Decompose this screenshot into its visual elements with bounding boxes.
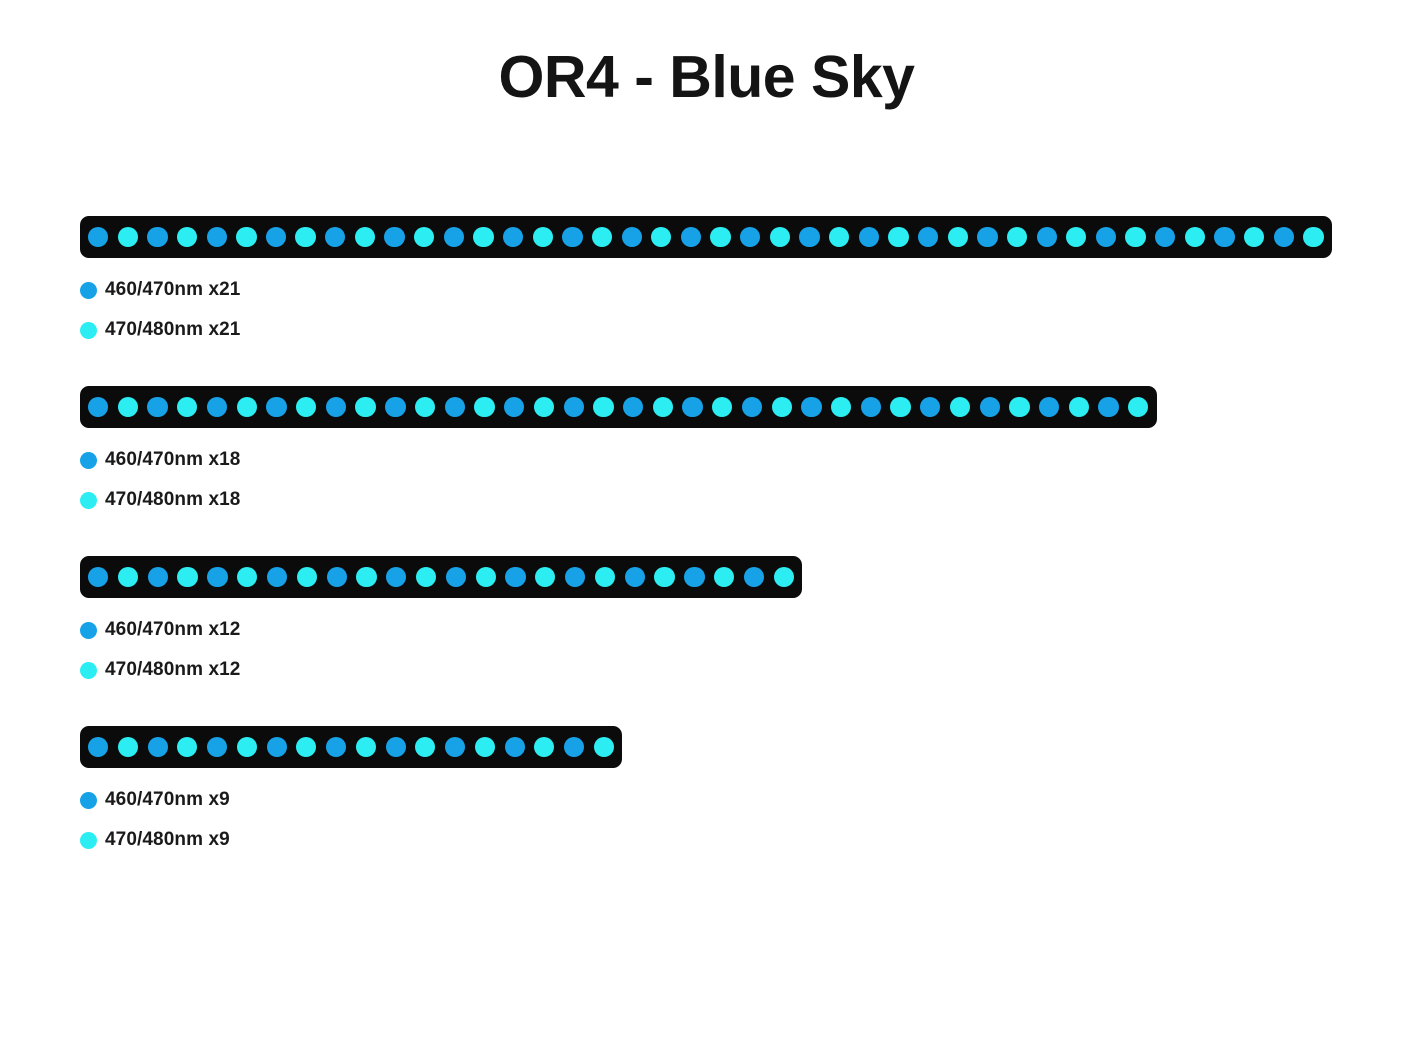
- led-460-470nm: [1096, 227, 1116, 247]
- led-460-470nm: [861, 397, 881, 417]
- led-460-470nm: [564, 397, 584, 417]
- led-460-470nm: [859, 227, 879, 247]
- led-470-480nm: [473, 227, 493, 247]
- led-470-480nm: [415, 397, 435, 417]
- led-470-480nm: [297, 567, 317, 587]
- led-470-480nm: [474, 397, 494, 417]
- led-460-470nm: [740, 227, 760, 247]
- led-460-470nm: [266, 397, 286, 417]
- led-460-470nm: [147, 397, 167, 417]
- led-470-480nm: [1125, 227, 1145, 247]
- led-470-480nm: [653, 397, 673, 417]
- led-470-480nm: [296, 397, 316, 417]
- legend-label: 470/480nm x21: [105, 319, 240, 341]
- led-460-470nm: [147, 227, 167, 247]
- legend-label: 470/480nm x18: [105, 489, 240, 511]
- led-470-480nm: [355, 397, 375, 417]
- led-460-470nm: [446, 567, 466, 587]
- led-470-480nm: [888, 227, 908, 247]
- legend-row: 460/470nm x12: [80, 615, 1413, 645]
- led-470-480nm: [1069, 397, 1089, 417]
- led-470-480nm: [1303, 227, 1323, 247]
- led-bar[interactable]: [80, 726, 622, 768]
- led-470-480nm: [772, 397, 792, 417]
- led-470-480nm: [770, 227, 790, 247]
- led-460-470nm: [977, 227, 997, 247]
- led-470-480nm: [654, 567, 674, 587]
- legend: 460/470nm x9470/480nm x9: [80, 785, 1413, 855]
- led-group: 460/470nm x18470/480nm x18: [0, 386, 1413, 515]
- legend-label: 470/480nm x9: [105, 829, 230, 851]
- led-460-470nm: [625, 567, 645, 587]
- legend-dot-460-470nm-icon: [80, 792, 97, 809]
- led-460-470nm: [445, 397, 465, 417]
- legend: 460/470nm x12470/480nm x12: [80, 615, 1413, 685]
- legend-row: 470/480nm x21: [80, 315, 1413, 345]
- led-460-470nm: [562, 227, 582, 247]
- legend-dot-460-470nm-icon: [80, 282, 97, 299]
- legend: 460/470nm x21470/480nm x21: [80, 275, 1413, 345]
- led-470-480nm: [593, 397, 613, 417]
- led-460-470nm: [207, 227, 227, 247]
- legend-label: 460/470nm x21: [105, 279, 240, 301]
- led-470-480nm: [592, 227, 612, 247]
- led-470-480nm: [355, 227, 375, 247]
- led-460-470nm: [445, 737, 465, 757]
- led-470-480nm: [177, 227, 197, 247]
- led-460-470nm: [326, 397, 346, 417]
- led-470-480nm: [356, 737, 376, 757]
- led-460-470nm: [681, 227, 701, 247]
- led-470-480nm: [1066, 227, 1086, 247]
- legend-dot-470-480nm-icon: [80, 662, 97, 679]
- led-460-470nm: [1098, 397, 1118, 417]
- led-460-470nm: [742, 397, 762, 417]
- led-460-470nm: [505, 737, 525, 757]
- legend-row: 470/480nm x12: [80, 655, 1413, 685]
- led-470-480nm: [414, 227, 434, 247]
- led-460-470nm: [266, 227, 286, 247]
- led-460-470nm: [88, 567, 108, 587]
- led-group: 460/470nm x12470/480nm x12: [0, 556, 1413, 685]
- led-460-470nm: [622, 227, 642, 247]
- led-460-470nm: [327, 567, 347, 587]
- led-470-480nm: [1244, 227, 1264, 247]
- led-470-480nm: [1128, 397, 1148, 417]
- led-bar[interactable]: [80, 386, 1157, 428]
- led-470-480nm: [534, 737, 554, 757]
- led-460-470nm: [267, 737, 287, 757]
- led-460-470nm: [980, 397, 1000, 417]
- led-470-480nm: [475, 737, 495, 757]
- led-460-470nm: [801, 397, 821, 417]
- led-470-480nm: [237, 567, 257, 587]
- led-460-470nm: [88, 397, 108, 417]
- led-460-470nm: [920, 397, 940, 417]
- led-460-470nm: [444, 227, 464, 247]
- led-group: 460/470nm x9470/480nm x9: [0, 726, 1413, 855]
- led-460-470nm: [88, 227, 108, 247]
- led-460-470nm: [148, 567, 168, 587]
- legend-label: 460/470nm x18: [105, 449, 240, 471]
- legend-row: 460/470nm x9: [80, 785, 1413, 815]
- page-title: OR4 - Blue Sky: [0, 48, 1413, 107]
- led-bar[interactable]: [80, 556, 802, 598]
- led-470-480nm: [950, 397, 970, 417]
- led-460-470nm: [1155, 227, 1175, 247]
- legend-label: 470/480nm x12: [105, 659, 240, 681]
- led-470-480nm: [476, 567, 496, 587]
- led-470-480nm: [237, 397, 257, 417]
- led-470-480nm: [595, 567, 615, 587]
- led-470-480nm: [177, 397, 197, 417]
- led-470-480nm: [118, 737, 138, 757]
- led-470-480nm: [534, 397, 554, 417]
- led-460-470nm: [326, 737, 346, 757]
- led-470-480nm: [118, 397, 138, 417]
- led-470-480nm: [296, 737, 316, 757]
- led-460-470nm: [325, 227, 345, 247]
- legend-row: 460/470nm x21: [80, 275, 1413, 305]
- led-460-470nm: [386, 567, 406, 587]
- legend-label: 460/470nm x12: [105, 619, 240, 641]
- led-470-480nm: [712, 397, 732, 417]
- led-460-470nm: [148, 737, 168, 757]
- led-460-470nm: [207, 737, 227, 757]
- led-470-480nm: [710, 227, 730, 247]
- led-460-470nm: [386, 737, 406, 757]
- led-group: 460/470nm x21470/480nm x21: [0, 216, 1413, 345]
- led-470-480nm: [237, 737, 257, 757]
- led-460-470nm: [267, 567, 287, 587]
- led-470-480nm: [651, 227, 671, 247]
- legend-dot-460-470nm-icon: [80, 452, 97, 469]
- legend-row: 470/480nm x18: [80, 485, 1413, 515]
- legend-row: 470/480nm x9: [80, 825, 1413, 855]
- legend-dot-460-470nm-icon: [80, 622, 97, 639]
- led-470-480nm: [594, 737, 614, 757]
- led-470-480nm: [177, 567, 197, 587]
- led-460-470nm: [1214, 227, 1234, 247]
- legend-dot-470-480nm-icon: [80, 492, 97, 509]
- led-460-470nm: [623, 397, 643, 417]
- led-470-480nm: [356, 567, 376, 587]
- led-460-470nm: [504, 397, 524, 417]
- legend-dot-470-480nm-icon: [80, 832, 97, 849]
- led-460-470nm: [384, 227, 404, 247]
- led-460-470nm: [684, 567, 704, 587]
- legend: 460/470nm x18470/480nm x18: [80, 445, 1413, 515]
- led-460-470nm: [385, 397, 405, 417]
- led-460-470nm: [207, 567, 227, 587]
- led-bar[interactable]: [80, 216, 1332, 258]
- led-470-480nm: [533, 227, 553, 247]
- led-470-480nm: [1007, 227, 1027, 247]
- led-groups-container: 460/470nm x21470/480nm x21460/470nm x184…: [0, 216, 1413, 865]
- led-470-480nm: [829, 227, 849, 247]
- led-460-470nm: [1274, 227, 1294, 247]
- led-460-470nm: [1037, 227, 1057, 247]
- led-460-470nm: [503, 227, 523, 247]
- led-470-480nm: [890, 397, 910, 417]
- led-470-480nm: [118, 227, 138, 247]
- led-460-470nm: [505, 567, 525, 587]
- led-470-480nm: [831, 397, 851, 417]
- led-470-480nm: [415, 737, 435, 757]
- led-460-470nm: [799, 227, 819, 247]
- led-470-480nm: [1185, 227, 1205, 247]
- led-470-480nm: [416, 567, 436, 587]
- legend-row: 460/470nm x18: [80, 445, 1413, 475]
- led-470-480nm: [177, 737, 197, 757]
- legend-dot-470-480nm-icon: [80, 322, 97, 339]
- led-470-480nm: [948, 227, 968, 247]
- led-470-480nm: [774, 567, 794, 587]
- led-470-480nm: [535, 567, 555, 587]
- legend-label: 460/470nm x9: [105, 789, 230, 811]
- led-460-470nm: [88, 737, 108, 757]
- led-460-470nm: [565, 567, 585, 587]
- led-460-470nm: [918, 227, 938, 247]
- led-470-480nm: [1009, 397, 1029, 417]
- led-460-470nm: [1039, 397, 1059, 417]
- led-470-480nm: [714, 567, 734, 587]
- led-460-470nm: [207, 397, 227, 417]
- led-470-480nm: [236, 227, 256, 247]
- led-460-470nm: [564, 737, 584, 757]
- led-460-470nm: [682, 397, 702, 417]
- led-460-470nm: [744, 567, 764, 587]
- led-470-480nm: [118, 567, 138, 587]
- led-470-480nm: [295, 227, 315, 247]
